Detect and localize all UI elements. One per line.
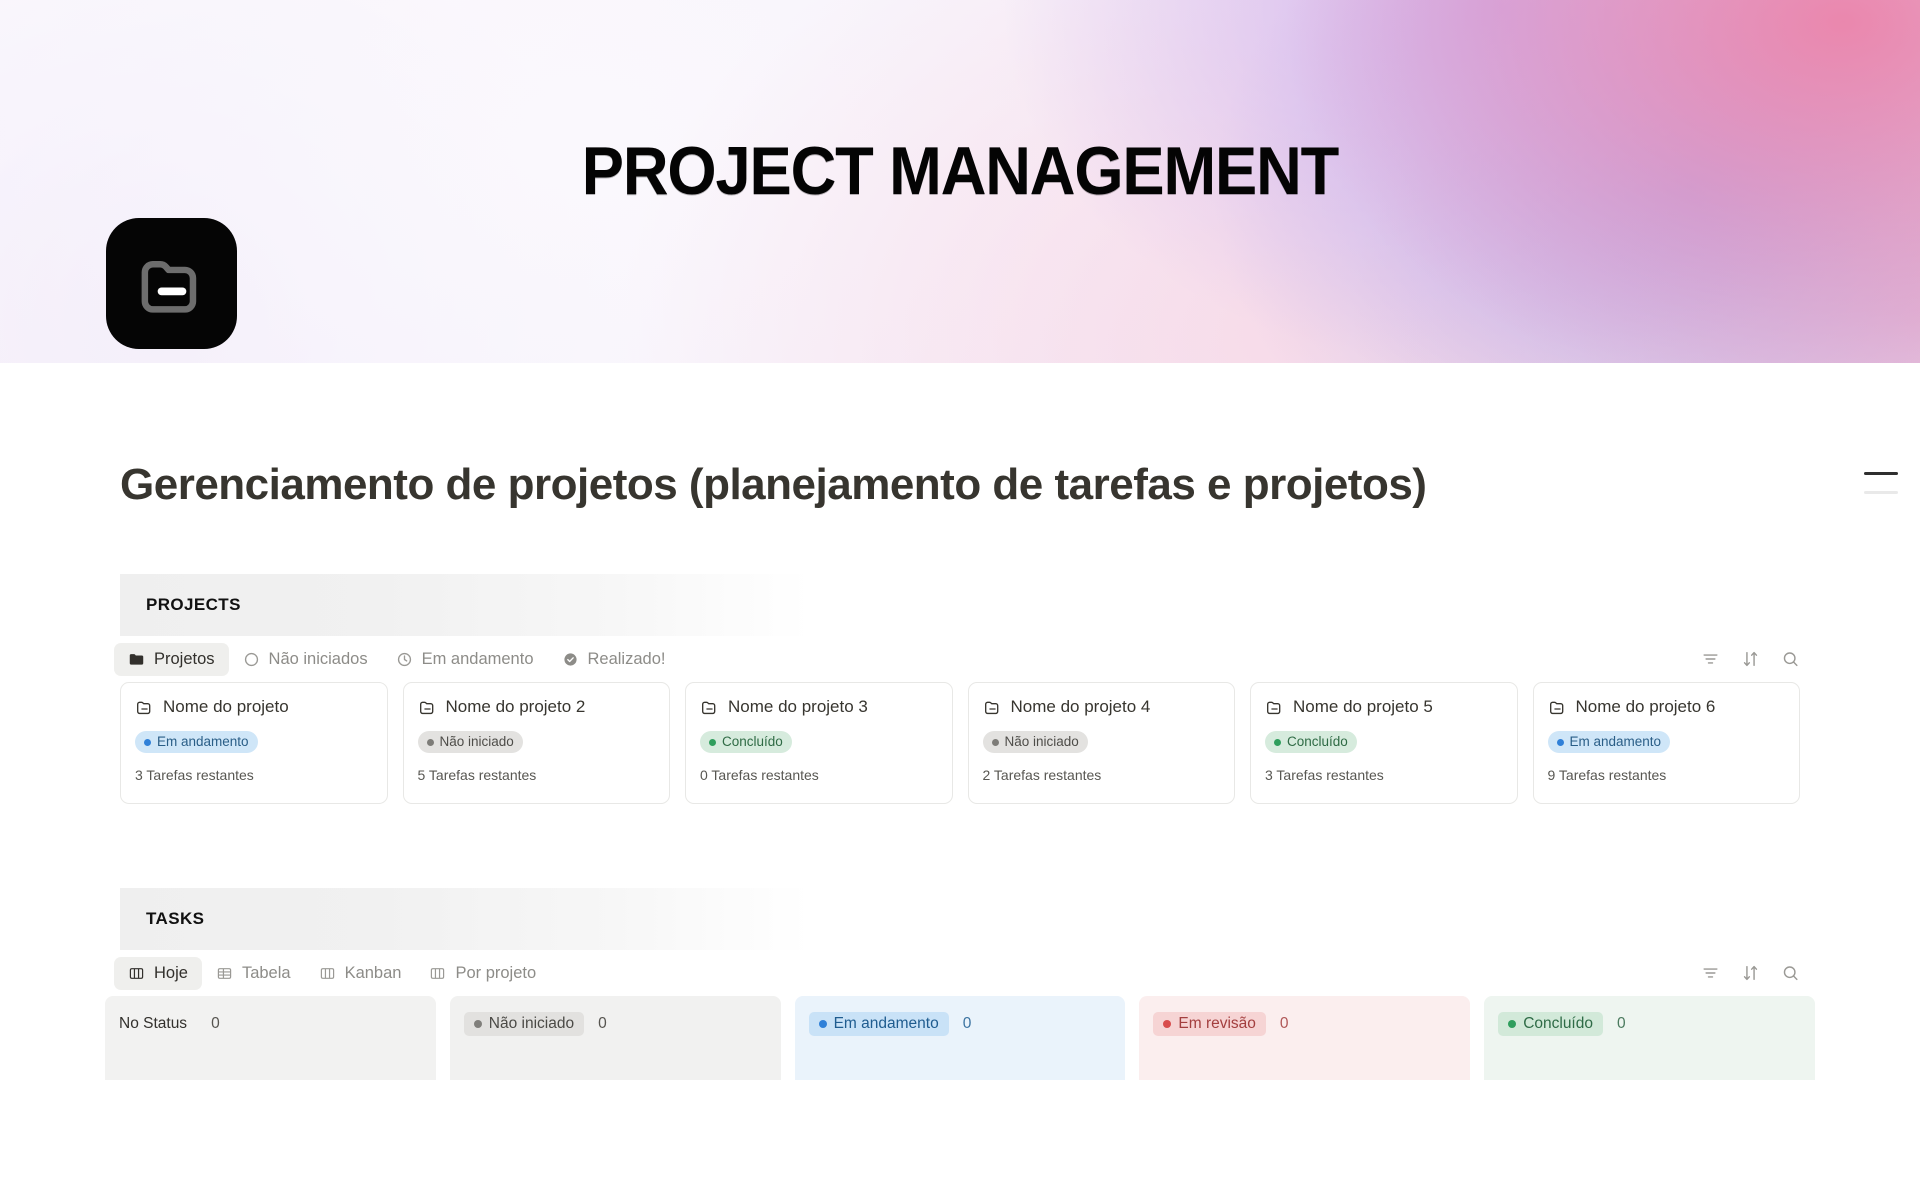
circle-icon [243, 651, 260, 668]
tab-label: Kanban [345, 964, 402, 983]
kanban-column-chip: Em revisão [1153, 1012, 1266, 1036]
project-card-tasks: 5 Tarefas restantes [418, 767, 656, 783]
tab-realizado[interactable]: Realizado! [548, 643, 680, 676]
kanban-column-chip: Não iniciado [464, 1012, 584, 1036]
status-label: Concluído [1287, 735, 1348, 749]
project-card-title: Nome do projeto 6 [1576, 697, 1716, 717]
board-icon [128, 965, 145, 982]
status-dot [709, 739, 716, 746]
status-dot [1508, 1020, 1516, 1028]
folder-filled-icon [128, 651, 145, 668]
kanban-column-no-status[interactable]: No Status 0 [105, 996, 436, 1080]
folder-minus-icon [135, 698, 154, 717]
folder-minus-icon [135, 247, 209, 321]
tab-projetos[interactable]: Projetos [114, 643, 229, 676]
tab-label: Hoje [154, 964, 188, 983]
project-card-tasks: 0 Tarefas restantes [700, 767, 938, 783]
status-badge: Não iniciado [983, 731, 1088, 753]
notion-project-management-page: PROJECT MANAGEMENT Gerenciamento de proj… [0, 0, 1920, 1199]
board-icon [429, 965, 446, 982]
project-card-title: Nome do projeto [163, 697, 289, 717]
project-card[interactable]: Nome do projeto 4 Não iniciado 2 Tarefas… [968, 682, 1236, 804]
kanban-column-nao-iniciado[interactable]: Não iniciado 0 [450, 996, 781, 1080]
cover-banner: PROJECT MANAGEMENT [0, 0, 1920, 363]
kanban-column-count: 0 [1280, 1015, 1289, 1033]
kanban-column-label: No Status [119, 1016, 187, 1032]
project-card-tasks: 9 Tarefas restantes [1548, 767, 1786, 783]
kanban-column-label: Concluído [1523, 1016, 1593, 1032]
status-badge: Em andamento [1548, 731, 1671, 753]
kanban-columns: No Status 0 Não iniciado 0 [105, 996, 1815, 1080]
kanban-column-chip: Concluído [1498, 1012, 1603, 1036]
status-label: Não iniciado [440, 735, 514, 749]
status-badge: Em andamento [135, 731, 258, 753]
status-dot [1163, 1020, 1171, 1028]
status-badge: Concluído [700, 731, 792, 753]
folder-minus-icon [1265, 698, 1284, 717]
projects-section: PROJECTS Projetos Não iniciados Em andam [0, 574, 1920, 804]
sort-icon[interactable] [1741, 650, 1760, 669]
project-card-title: Nome do projeto 5 [1293, 697, 1433, 717]
project-card-tasks: 3 Tarefas restantes [135, 767, 373, 783]
project-card-list: Nome do projeto Em andamento 3 Tarefas r… [120, 682, 1800, 804]
page-title-row: Gerenciamento de projetos (planejamento … [0, 460, 1920, 511]
projects-section-banner: PROJECTS [120, 574, 810, 636]
cover-title: PROJECT MANAGEMENT [67, 137, 1853, 205]
kanban-column-label: Em revisão [1178, 1016, 1256, 1032]
kanban-column-count: 0 [1617, 1015, 1626, 1033]
table-icon [216, 965, 233, 982]
page-title: Gerenciamento de projetos (planejamento … [120, 460, 1426, 511]
tab-hoje[interactable]: Hoje [114, 957, 202, 990]
kanban-column-count: 0 [598, 1015, 607, 1033]
collapse-icon[interactable] [1864, 472, 1900, 494]
status-label: Em andamento [157, 735, 249, 749]
project-card-tasks: 3 Tarefas restantes [1265, 767, 1503, 783]
status-dot [474, 1020, 482, 1028]
kanban-column-label: Em andamento [834, 1016, 939, 1032]
project-card-title: Nome do projeto 2 [446, 697, 586, 717]
tasks-banner-label: TASKS [146, 909, 204, 929]
tab-nao-iniciados[interactable]: Não iniciados [229, 643, 382, 676]
project-card-title: Nome do projeto 4 [1011, 697, 1151, 717]
status-label: Em andamento [1570, 735, 1662, 749]
board-icon [319, 965, 336, 982]
tab-label: Realizado! [588, 650, 666, 669]
folder-minus-icon [700, 698, 719, 717]
kanban-column-em-revisao[interactable]: Em revisão 0 [1139, 996, 1470, 1080]
project-card[interactable]: Nome do projeto 6 Em andamento 9 Tarefas… [1533, 682, 1801, 804]
project-card[interactable]: Nome do projeto 2 Não iniciado 5 Tarefas… [403, 682, 671, 804]
status-dot [427, 739, 434, 746]
project-card-tasks: 2 Tarefas restantes [983, 767, 1221, 783]
projects-tabbar: Projetos Não iniciados Em andamento Real… [114, 636, 1900, 682]
project-card-title: Nome do projeto 3 [728, 697, 868, 717]
status-label: Não iniciado [1005, 735, 1079, 749]
status-dot [992, 739, 999, 746]
status-dot [1557, 739, 1564, 746]
search-icon[interactable] [1781, 650, 1800, 669]
tab-tabela[interactable]: Tabela [202, 957, 305, 990]
kanban-column-concluido[interactable]: Concluído 0 [1484, 996, 1815, 1080]
folder-minus-icon [983, 698, 1002, 717]
status-dot [819, 1020, 827, 1028]
search-icon[interactable] [1781, 964, 1800, 983]
kanban-column-chip: Em andamento [809, 1012, 949, 1036]
tab-label: Tabela [242, 964, 291, 983]
tab-em-andamento[interactable]: Em andamento [382, 643, 548, 676]
status-label: Concluído [722, 735, 783, 749]
check-circle-icon [562, 651, 579, 668]
tab-kanban[interactable]: Kanban [305, 957, 416, 990]
status-badge: Não iniciado [418, 731, 523, 753]
project-card[interactable]: Nome do projeto 5 Concluído 3 Tarefas re… [1250, 682, 1518, 804]
status-dot [1274, 739, 1281, 746]
tasks-tabbar: Hoje Tabela Kanban Por projeto [114, 950, 1900, 996]
tasks-section-banner: TASKS [120, 888, 810, 950]
tab-label: Projetos [154, 650, 215, 669]
status-dot [144, 739, 151, 746]
clock-icon [396, 651, 413, 668]
tab-label: Por projeto [455, 964, 536, 983]
tab-label: Em andamento [422, 650, 534, 669]
kanban-column-count: 0 [211, 1015, 220, 1033]
kanban-column-chip: No Status [119, 1012, 197, 1036]
tasks-section: TASKS Hoje Tabela Kanban [0, 888, 1920, 1080]
sort-icon[interactable] [1741, 964, 1760, 983]
kanban-column-label: Não iniciado [489, 1016, 574, 1032]
kanban-column-count: 0 [963, 1015, 972, 1033]
filter-icon[interactable] [1701, 650, 1720, 669]
folder-minus-icon [418, 698, 437, 717]
project-card[interactable]: Nome do projeto 3 Concluído 0 Tarefas re… [685, 682, 953, 804]
projects-banner-label: PROJECTS [146, 595, 241, 615]
page-icon[interactable] [106, 218, 237, 349]
tab-label: Não iniciados [269, 650, 368, 669]
projects-toolbar [1701, 650, 1800, 669]
filter-icon[interactable] [1701, 964, 1720, 983]
kanban-column-em-andamento[interactable]: Em andamento 0 [795, 996, 1126, 1080]
tab-por-projeto[interactable]: Por projeto [415, 957, 550, 990]
project-card[interactable]: Nome do projeto Em andamento 3 Tarefas r… [120, 682, 388, 804]
tasks-toolbar [1701, 964, 1800, 983]
folder-minus-icon [1548, 698, 1567, 717]
status-badge: Concluído [1265, 731, 1357, 753]
